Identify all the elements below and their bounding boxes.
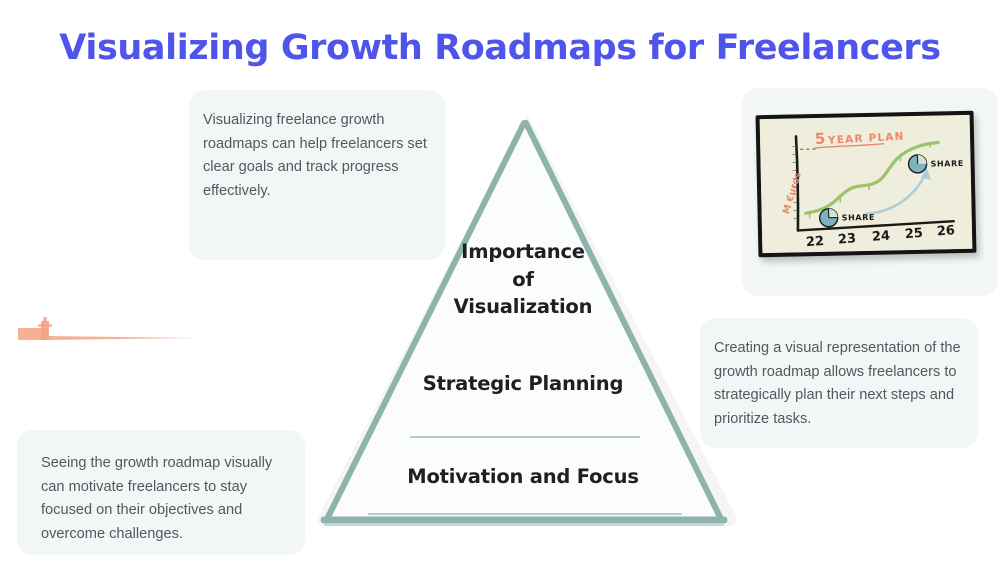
svg-text:22: 22	[805, 234, 824, 250]
whiteboard-photo: 5 YEAR PLAN M €uros	[760, 115, 973, 253]
orange-rule-icon	[18, 316, 198, 348]
svg-text:SHARE: SHARE	[842, 213, 875, 223]
illustration-card: 5 YEAR PLAN M €uros	[742, 88, 998, 296]
five-year-plan-chart-svg: 5 YEAR PLAN M €uros	[760, 115, 973, 253]
note-card-bottom-left: Seeing the growth roadmap visually can m…	[17, 430, 305, 555]
pyramid-tier-label-2: Motivation and Focus	[343, 463, 703, 491]
svg-text:24: 24	[871, 229, 890, 245]
svg-text:25: 25	[904, 226, 923, 242]
pyramid-tier-label-0: Importance of Visualization	[418, 238, 628, 321]
pyramid-diagram: Importance of Visualization Strategic Pl…	[303, 108, 743, 533]
whiteboard-photo-frame: 5 YEAR PLAN M €uros	[756, 111, 977, 258]
svg-text:SHARE: SHARE	[931, 159, 964, 169]
note-text-bottom-left: Seeing the growth roadmap visually can m…	[41, 452, 297, 547]
svg-text:26: 26	[936, 223, 955, 239]
pyramid-tier-label-1: Strategic Planning	[363, 370, 683, 398]
infographic-canvas: Visualizing Growth Roadmaps for Freelanc…	[0, 0, 1000, 563]
note-text-right: Creating a visual representation of the …	[714, 337, 964, 432]
svg-text:5: 5	[814, 129, 825, 148]
svg-text:23: 23	[837, 231, 856, 247]
page-title: Visualizing Growth Roadmaps for Freelanc…	[0, 28, 1000, 68]
left-decoration	[18, 316, 198, 348]
